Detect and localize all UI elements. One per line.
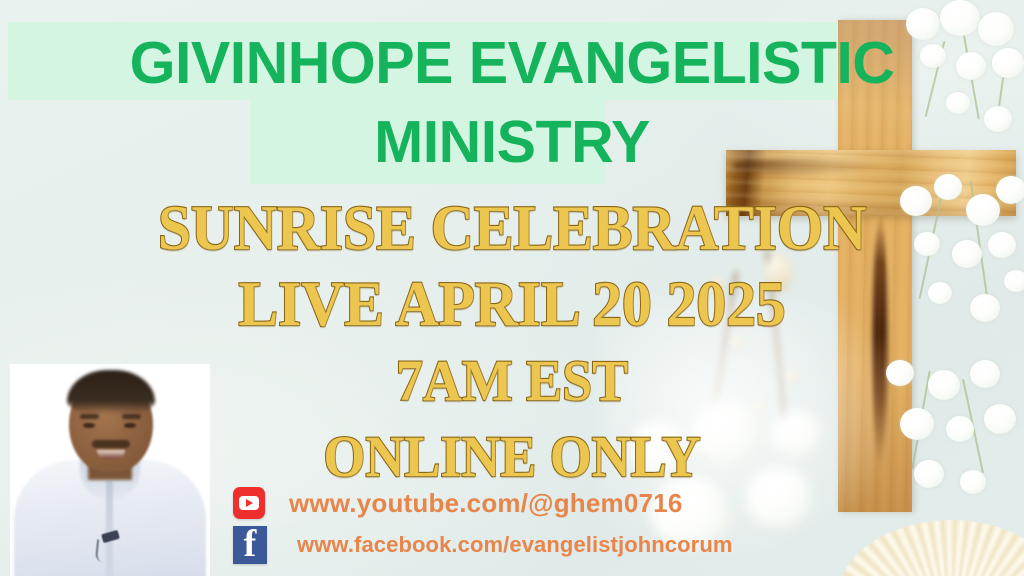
flower-petal	[984, 404, 1016, 434]
event-flyer: GIVINHOPE EVANGELISTIC MINISTRY SUNRISE …	[0, 0, 1024, 576]
facebook-icon[interactable]	[233, 526, 267, 564]
portrait-eyebrow-left	[80, 414, 99, 419]
flower-petal	[988, 232, 1016, 258]
flower-petal	[940, 0, 980, 36]
facebook-link-row[interactable]: www.facebook.com/evangelistjohncorum	[233, 526, 733, 564]
portrait-hair	[67, 370, 155, 414]
youtube-icon[interactable]	[233, 487, 265, 519]
portrait-eyebrow-right	[122, 414, 141, 419]
portrait-eye-right	[124, 423, 136, 428]
event-name: SUNRISE CELEBRATION	[36, 196, 988, 260]
youtube-url[interactable]: www.youtube.com/@ghem0716	[289, 488, 682, 519]
flower-petal	[946, 92, 970, 114]
portrait-eye-left	[83, 423, 95, 428]
facebook-url[interactable]: www.facebook.com/evangelistjohncorum	[297, 532, 733, 558]
event-date: LIVE APRIL 20 2025	[36, 272, 988, 336]
ministry-title-line-1: GIVINHOPE EVANGELISTIC	[0, 34, 1024, 93]
pastor-portrait	[10, 364, 210, 576]
ministry-title-line-2: MINISTRY	[0, 113, 1024, 172]
portrait-mustache	[92, 440, 130, 448]
youtube-link-row[interactable]: www.youtube.com/@ghem0716	[233, 487, 682, 519]
microphone-wire	[95, 539, 110, 562]
flower-petal	[1004, 270, 1024, 292]
flower-petal	[996, 176, 1024, 204]
